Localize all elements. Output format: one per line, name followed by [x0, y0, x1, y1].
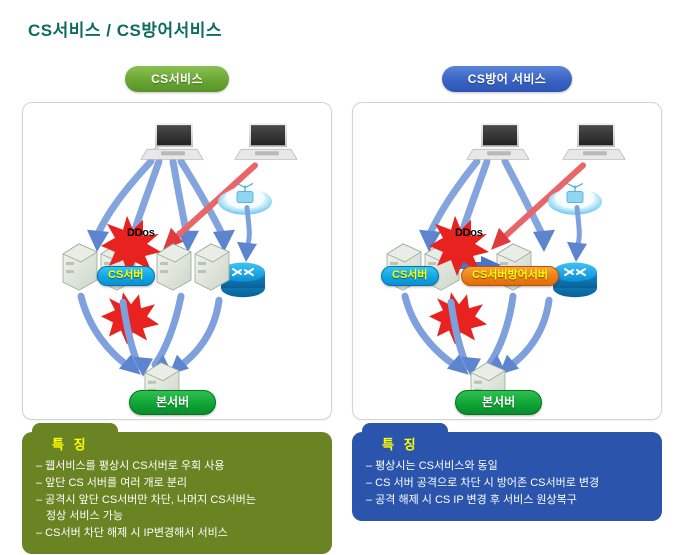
diagram-panel-cs-service: DDos CS서버 본서버	[22, 102, 332, 420]
cs-defense-server-badge: CS서버방어서버	[461, 266, 559, 286]
main-server-badge: 본서버	[455, 390, 542, 415]
attack-arrows-blue	[429, 161, 543, 235]
feature-item: – CS 서버 공격으로 차단 시 방어존 CS서버로 변경	[366, 475, 648, 491]
laptop-icon-secondary	[563, 123, 625, 159]
diagram-svg-cs-defense-service	[353, 103, 661, 419]
ddos-label: DDos	[455, 227, 483, 239]
feature-box-cs-service: 특 징 – 웹서비스를 평상시 CS서버로 우회 사용 – 앞단 CS 서버를 …	[22, 432, 332, 554]
feature-item: – CS서버 차단 해제 시 IP변경해서 서비스	[36, 525, 318, 541]
header-pill-cs-defense-service: CS방어 서비스	[442, 66, 572, 92]
router-icon	[553, 263, 597, 298]
ddos-label: DDos	[127, 227, 155, 239]
feature-item: – 앞단 CS 서버를 여러 개로 분리	[36, 475, 318, 491]
feature-tab-label: 특 징	[32, 431, 109, 457]
column-cs-defense-service: CS방어 서비스	[352, 66, 662, 521]
feature-list-cs-service: – 웹서비스를 평상시 CS서버로 우회 사용 – 앞단 CS 서버를 여러 개…	[36, 458, 318, 541]
page-title: CS서비스 / CS방어서비스	[28, 16, 222, 41]
laptop-icon-primary	[141, 123, 203, 159]
feature-tab-label: 특 징	[362, 431, 439, 457]
laptop-icon-secondary	[235, 123, 297, 159]
feature-box-cs-defense-service: 특 징 – 평상시는 CS서비스와 동일 – CS 서버 공격으로 차단 시 방…	[352, 432, 662, 521]
feature-item: – 공격 해제 시 CS IP 변경 후 서비스 원상복구	[366, 492, 648, 508]
cs-server-badge: CS서버	[381, 266, 439, 286]
diagram-svg-cs-service	[23, 103, 331, 419]
diagram-panel-cs-defense-service: DDos CS서버 CS서버방어서버 본서버	[352, 102, 662, 420]
feature-list-cs-defense-service: – 평상시는 CS서비스와 동일 – CS 서버 공격으로 차단 시 방어존 C…	[366, 458, 648, 508]
feature-item: – 공격시 앞단 CS서버만 차단, 나머지 CS서버는 정상 서비스 가능	[36, 492, 318, 524]
header-pill-wrap: CS방어 서비스	[352, 66, 662, 92]
feature-item: – 평상시는 CS서비스와 동일	[366, 458, 648, 474]
laptop-icon-primary	[467, 123, 529, 159]
main-server-badge: 본서버	[129, 390, 216, 415]
cs-server-badge: CS서버	[97, 266, 155, 286]
header-pill-wrap: CS서비스	[22, 66, 332, 92]
header-pill-cs-service: CS서비스	[125, 66, 229, 92]
attack-arrows-blue	[97, 161, 223, 235]
column-cs-service: CS서비스	[22, 66, 332, 554]
feature-item: – 웹서비스를 평상시 CS서버로 우회 사용	[36, 458, 318, 474]
